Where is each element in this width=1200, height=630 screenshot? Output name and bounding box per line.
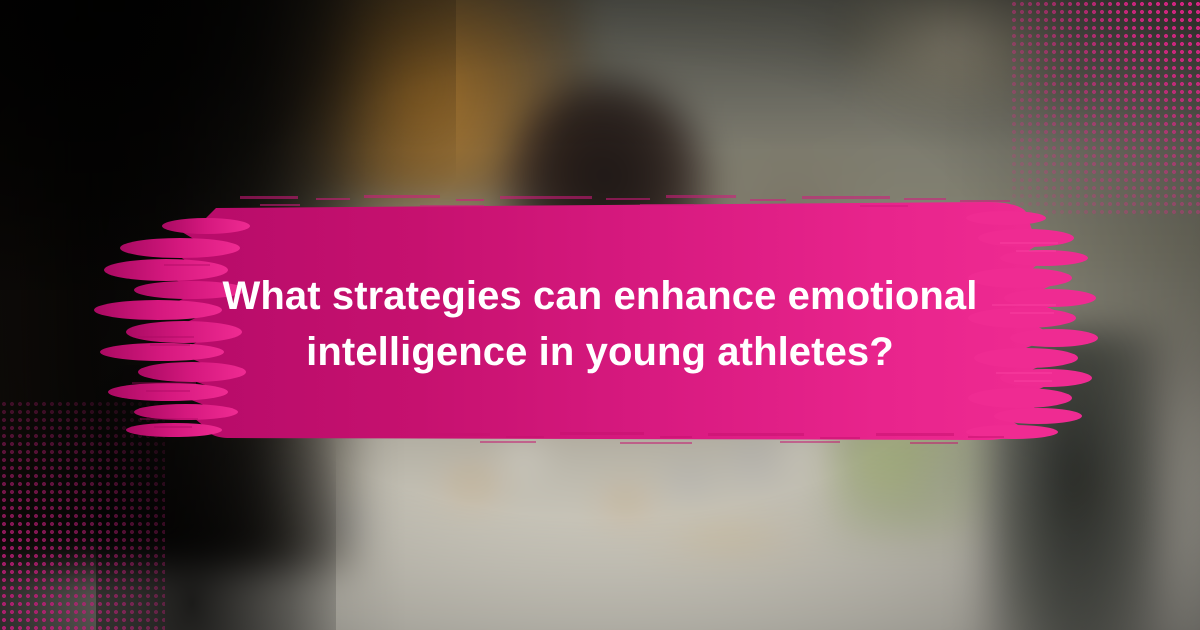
quote-card: What strategies can enhance emotional in… [0, 0, 1200, 630]
headline-text: What strategies can enhance emotional in… [200, 268, 1000, 380]
halftone-dots-top-right [1010, 0, 1200, 215]
